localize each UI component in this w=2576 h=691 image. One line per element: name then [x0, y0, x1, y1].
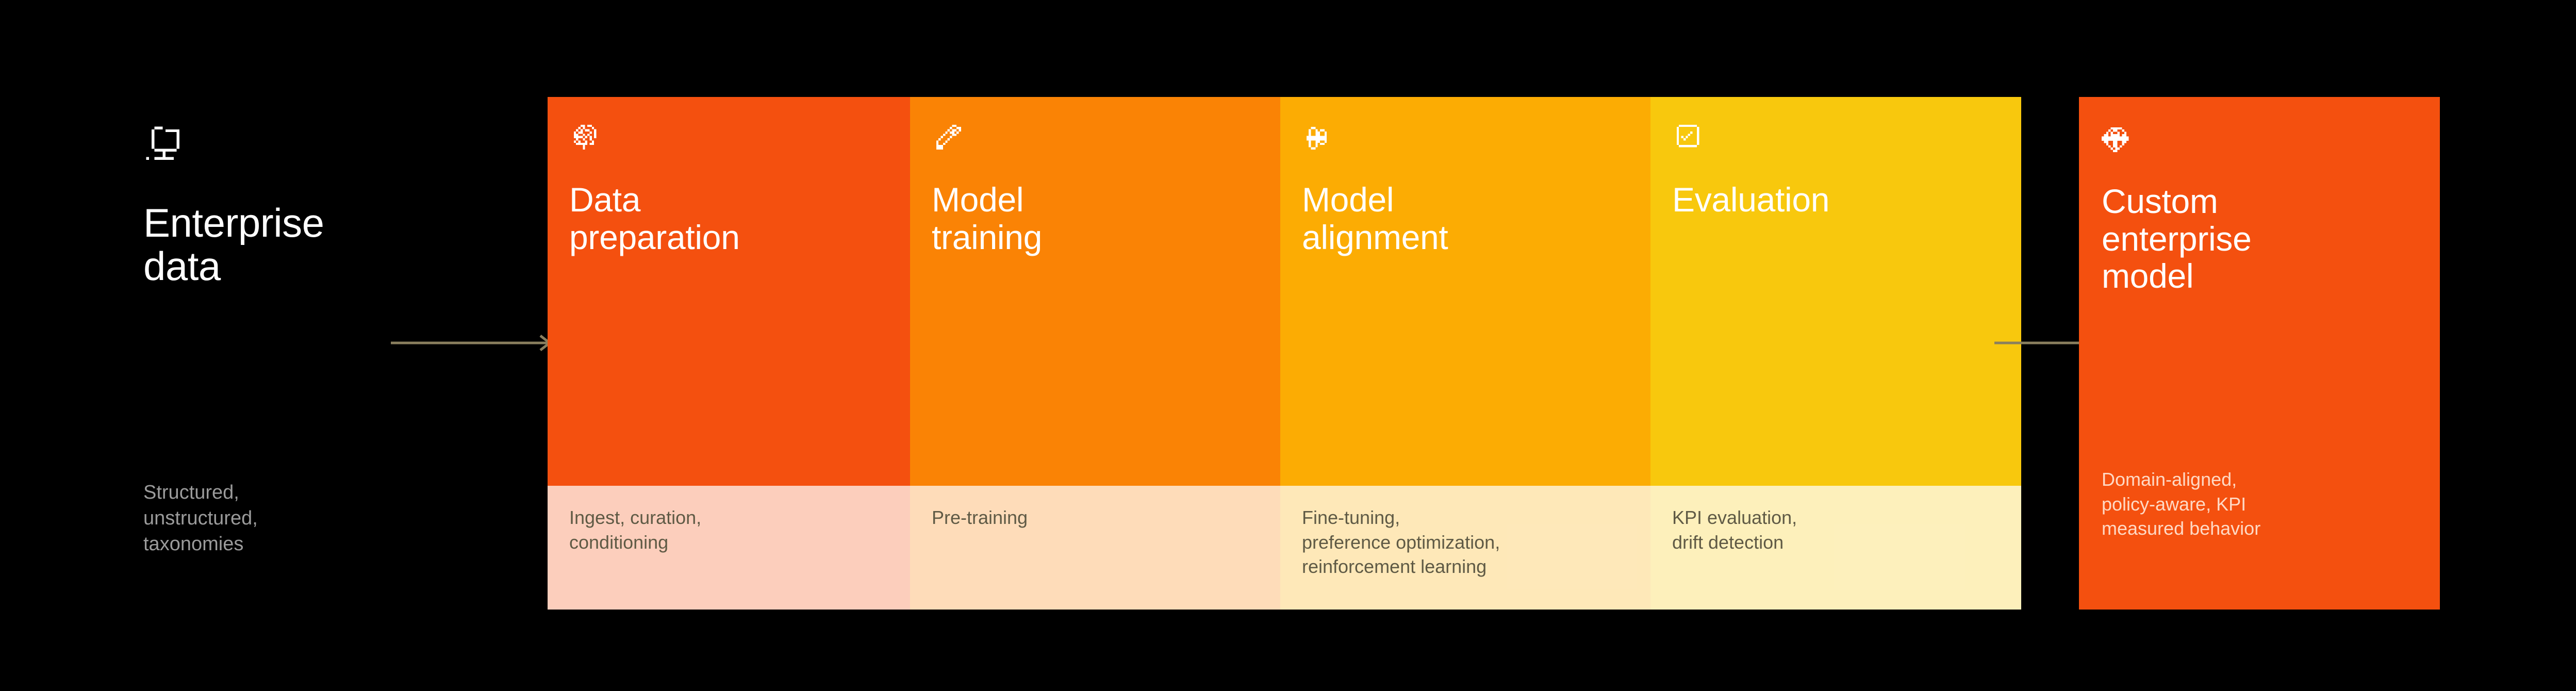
stage-title: Model alignment [1302, 181, 1629, 256]
stage-title: Model training [932, 181, 1259, 256]
brain-icon [569, 120, 605, 156]
stage-title: Evaluation [1672, 181, 2000, 219]
stage-body: Model training [910, 97, 1280, 486]
custom-enterprise-model-card[interactable]: Custom enterprise model Domain-aligned, … [2079, 97, 2440, 610]
pencil-icon [932, 120, 968, 156]
desktop-monitor-icon [143, 124, 188, 168]
stage-detail: KPI evaluation, drift detection [1650, 486, 2021, 610]
output-description: Domain-aligned, policy-aware, KPI measur… [2102, 467, 2390, 541]
diagram-canvas: Enterprise data Structured, unstructured… [0, 0, 2576, 691]
pipeline-strip: Data preparation Ingest, curation, condi… [548, 97, 2021, 610]
stage-detail: Ingest, curation, conditioning [548, 486, 910, 610]
stage-detail: Pre-training [910, 486, 1280, 610]
enterprise-data-source: Enterprise data Structured, unstructured… [143, 124, 432, 288]
stage-body: Evaluation [1650, 97, 2021, 486]
stage-body: Model alignment [1280, 97, 1650, 486]
stage-data-preparation[interactable]: Data preparation Ingest, curation, condi… [548, 97, 910, 610]
arrow-enterprise-data-to-pipeline [391, 333, 556, 353]
stage-body: Data preparation [548, 97, 910, 486]
stage-model-alignment[interactable]: Model alignment Fine-tuning, preference … [1280, 97, 1650, 610]
enterprise-data-description: Structured, unstructured, taxonomies [143, 480, 360, 557]
diamond-gem-icon [2102, 123, 2138, 159]
output-title: Custom enterprise model [2102, 183, 2417, 295]
alignment-icon [1302, 120, 1338, 156]
stage-evaluation[interactable]: Evaluation KPI evaluation, drift detecti… [1650, 97, 2021, 610]
stage-detail: Fine-tuning, preference optimization, re… [1280, 486, 1650, 610]
stage-title: Data preparation [569, 181, 888, 256]
stage-model-training[interactable]: Model training Pre-training [910, 97, 1280, 610]
checkbox-check-icon [1672, 120, 1708, 156]
page-title: Enterprise data [143, 201, 432, 288]
